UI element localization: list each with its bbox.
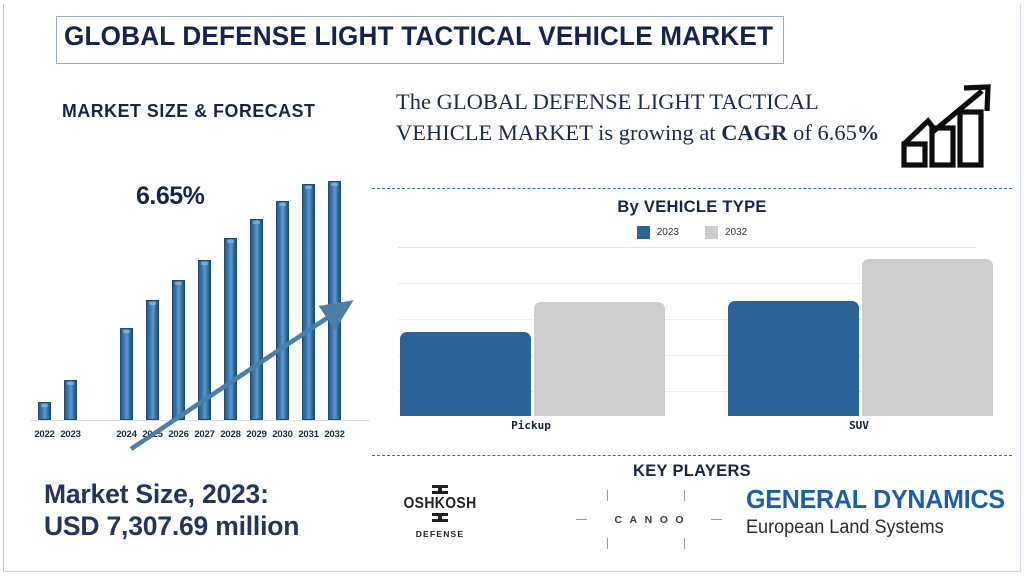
page-title: GLOBAL DEFENSE LIGHT TACTICAL VEHICLE MA… [64,21,769,52]
growth-chart-icon [898,84,1002,168]
canoo-tick-icon [607,490,608,501]
key-players-title: KEY PLAYERS [372,462,1012,481]
x-axis-label: 2023 [54,429,88,440]
canoo-logo[interactable]: CANOO [574,486,724,556]
statement-percent: % [857,120,880,145]
bar [64,380,77,420]
general-dynamics-sub-wordmark: European Land Systems [746,517,984,539]
statement-part2: of [787,120,817,145]
oshkosh-defense-logo[interactable]: OSHKOSH DEFENSE [390,485,490,539]
infographic-canvas: GLOBAL DEFENSE LIGHT TACTICAL VEHICLE MA… [0,0,1024,576]
vehicle-type-legend: 20232032 [372,226,1012,239]
legend-swatch [637,226,650,239]
bar [400,332,531,416]
gridline [398,247,976,248]
oshkosh-bracket-icon-lower [432,513,448,522]
statement-value: 6.65 [817,120,856,145]
growth-arrow [126,298,361,458]
market-size-label: Market Size, 2023: [44,478,374,510]
legend-label: 2023 [657,227,679,238]
market-size-callout: Market Size, 2023: USD 7,307.69 million [44,478,374,543]
cagr-annotation-left: 6.65% [136,182,204,211]
bar [862,259,993,416]
general-dynamics-wordmark: GENERAL DYNAMICS [746,486,991,515]
oshkosh-wordmark: OSHKOSH [395,495,485,513]
market-statement: The GLOBAL DEFENSE LIGHT TACTICAL VEHICL… [396,86,888,148]
bar [534,302,665,416]
canoo-wordmark: CANOO [574,514,724,526]
frame-left-border [3,4,4,572]
x-axis-label: SUV [819,419,899,432]
frame-right-border [1020,4,1021,572]
statement-cagr: CAGR [721,120,787,145]
x-axis-label: Pickup [491,419,571,432]
legend-swatch [705,226,718,239]
oshkosh-sub-wordmark: DEFENSE [390,529,490,539]
divider-top [372,188,1012,189]
canoo-tick-icon [607,538,608,549]
bar [728,301,859,416]
legend-item[interactable]: 2032 [705,226,747,239]
general-dynamics-logo[interactable]: GENERAL DYNAMICS European Land Systems [746,486,996,539]
market-size-value: USD 7,307.69 million [44,510,374,542]
frame-bottom-border [3,571,1021,572]
canoo-tick-icon [684,490,685,501]
market-size-forecast-heading: MARKET SIZE & FORECAST [62,100,315,122]
key-players-logos: OSHKOSH DEFENSE CANOO GENERAL DYNAMICS E… [376,482,1012,560]
vehicle-type-chart: PickupSUV [398,247,976,417]
canoo-tick-icon [684,538,685,549]
vehicle-type-chart-title: By VEHICLE TYPE [372,198,1012,217]
oshkosh-bracket-icon [432,485,448,494]
divider-bottom [372,455,1012,456]
legend-item[interactable]: 2023 [637,226,679,239]
legend-label: 2032 [725,227,747,238]
bar [38,402,51,420]
